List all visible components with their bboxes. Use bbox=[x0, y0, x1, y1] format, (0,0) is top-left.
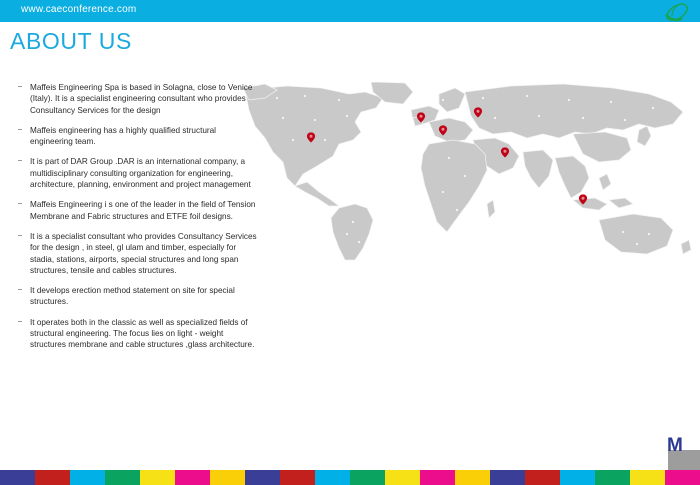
bullet-item: Maffeis Engineering i s one of the leade… bbox=[12, 199, 260, 222]
color-swatch bbox=[490, 470, 525, 485]
bullet-item: Maffeis Engineering Spa is based in Sola… bbox=[12, 82, 260, 116]
color-swatch bbox=[280, 470, 315, 485]
map-marker-office-uk[interactable] bbox=[417, 112, 426, 123]
color-swatch bbox=[245, 470, 280, 485]
cae-green-emblem-icon bbox=[656, 1, 692, 22]
about-us-body: Maffeis Engineering Spa is based in Sola… bbox=[12, 82, 260, 360]
bullet-dash-icon bbox=[18, 289, 22, 290]
bullet-text: It is a specialist consultant who provid… bbox=[30, 232, 257, 275]
color-swatch bbox=[175, 470, 210, 485]
color-swatch bbox=[210, 470, 245, 485]
top-banner: www.caeconference.com bbox=[0, 0, 700, 22]
color-swatch bbox=[315, 470, 350, 485]
slide-about-us: www.caeconference.com ABOUT US bbox=[0, 0, 700, 485]
bullet-item: Maffeis engineering has a highly qualifi… bbox=[12, 125, 260, 148]
bullet-text: Maffeis Engineering i s one of the leade… bbox=[30, 200, 255, 220]
color-swatch bbox=[455, 470, 490, 485]
bullet-dash-icon bbox=[18, 235, 22, 236]
bullet-item: It is part of DAR Group .DAR is an inter… bbox=[12, 156, 260, 190]
map-marker-office-italy[interactable] bbox=[439, 125, 448, 136]
page-title: ABOUT US bbox=[10, 28, 132, 55]
bullet-text: It develops erection method statement on… bbox=[30, 286, 235, 306]
bullet-dash-icon bbox=[18, 160, 22, 161]
bullet-dash-icon bbox=[18, 203, 22, 204]
color-swatch bbox=[140, 470, 175, 485]
color-swatch bbox=[595, 470, 630, 485]
color-swatch bbox=[560, 470, 595, 485]
map-marker-office-russia[interactable] bbox=[474, 107, 483, 118]
color-swatch bbox=[70, 470, 105, 485]
color-swatch bbox=[0, 470, 35, 485]
color-swatch bbox=[420, 470, 455, 485]
color-swatch bbox=[350, 470, 385, 485]
maffeis-logo: M bbox=[662, 432, 700, 470]
bullet-dash-icon bbox=[18, 321, 22, 322]
color-swatch bbox=[525, 470, 560, 485]
bullet-text: It operates both in the classic as well … bbox=[30, 318, 254, 350]
map-marker-office-usa[interactable] bbox=[307, 132, 316, 143]
footer-color-bar bbox=[0, 470, 700, 485]
map-marker-office-middleeast[interactable] bbox=[501, 147, 510, 158]
site-url-label: www.caeconference.com bbox=[21, 4, 136, 15]
bullet-text: Maffeis Engineering Spa is based in Sola… bbox=[30, 83, 252, 115]
bullet-item: It operates both in the classic as well … bbox=[12, 317, 260, 351]
bullet-text: It is part of DAR Group .DAR is an inter… bbox=[30, 157, 251, 189]
logo-letter-m: M bbox=[667, 436, 682, 455]
color-swatch bbox=[385, 470, 420, 485]
bullet-dash-icon bbox=[18, 86, 22, 87]
map-marker-layer bbox=[243, 82, 700, 262]
color-swatch bbox=[665, 470, 700, 485]
bullet-item: It is a specialist consultant who provid… bbox=[12, 231, 260, 276]
bullet-item: It develops erection method statement on… bbox=[12, 285, 260, 308]
color-swatch bbox=[630, 470, 665, 485]
bullet-text: Maffeis engineering has a highly qualifi… bbox=[30, 126, 216, 146]
map-marker-office-singapore[interactable] bbox=[579, 194, 588, 205]
color-swatch bbox=[105, 470, 140, 485]
bullet-dash-icon bbox=[18, 129, 22, 130]
color-swatch bbox=[35, 470, 70, 485]
